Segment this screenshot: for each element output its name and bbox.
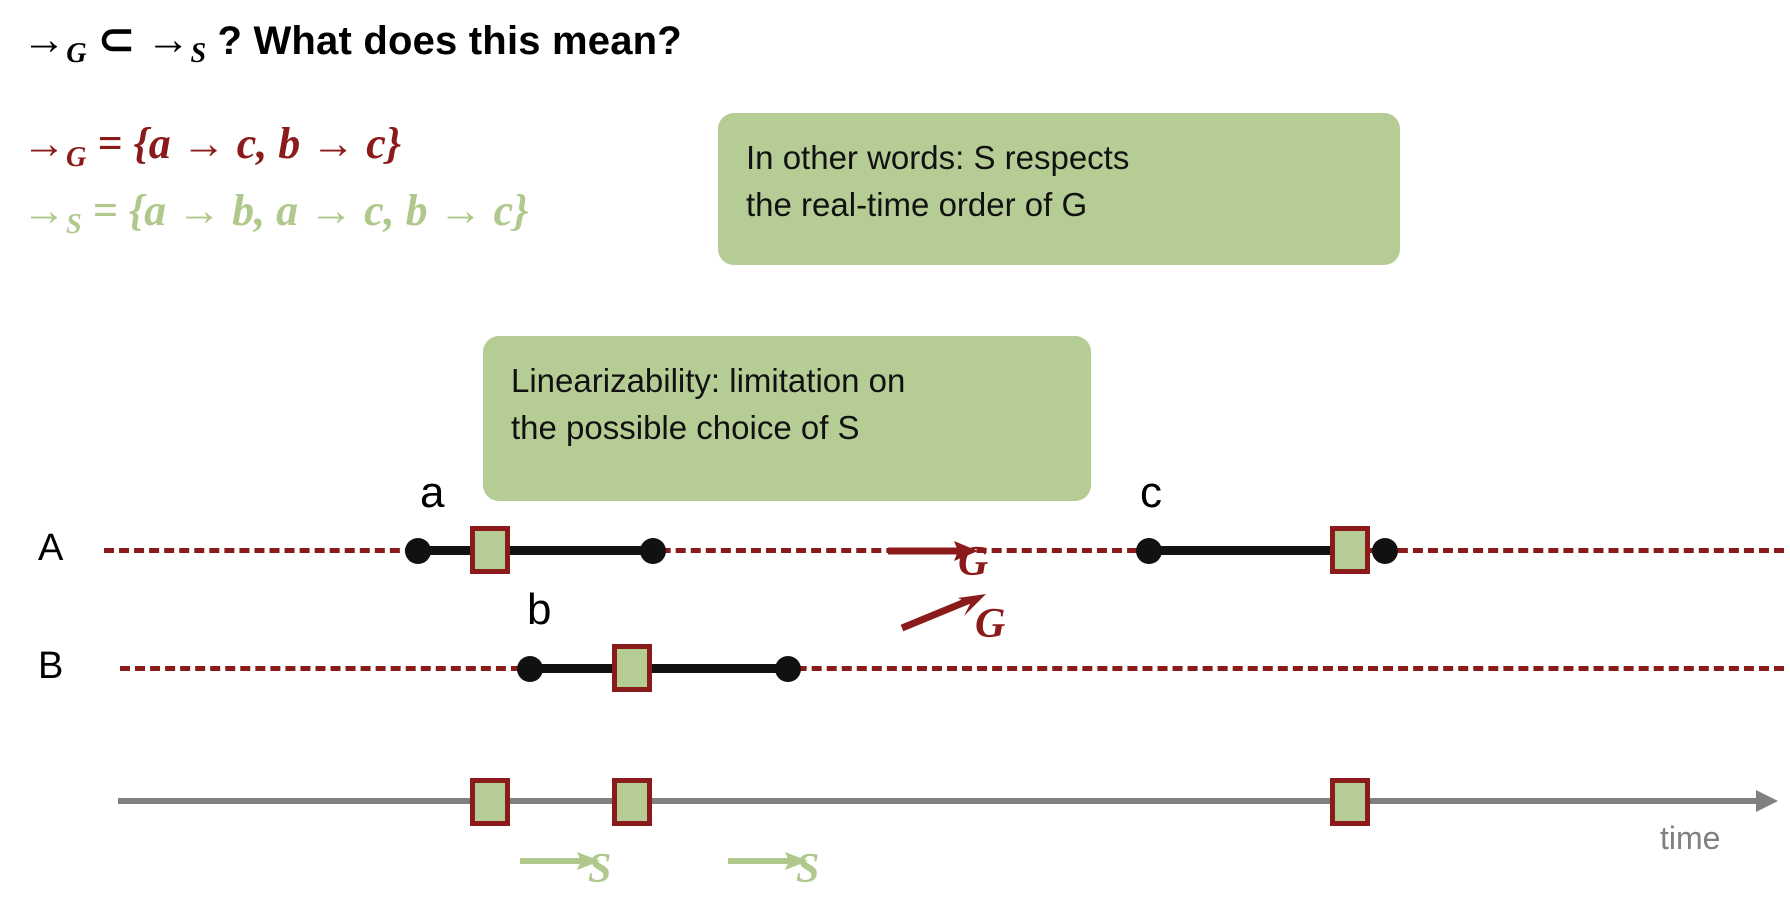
- title-rel-s: →S: [146, 15, 206, 64]
- operation-c-start-dot: [1136, 538, 1162, 564]
- relation-g-label-2: G: [975, 600, 1005, 648]
- callout-words-line2: the real-time order of G: [746, 182, 1372, 229]
- relation-s-label-1: S: [588, 845, 611, 893]
- title-question: ? What does this mean?: [218, 19, 682, 63]
- operation-label-a: a: [420, 468, 444, 518]
- operation-a-start-dot: [405, 538, 431, 564]
- operation-c-end-dot: [1372, 538, 1398, 564]
- operation-label-b: b: [527, 585, 551, 635]
- subset-symbol: ⊂: [98, 15, 135, 64]
- formula-s-subscript: S: [66, 209, 82, 240]
- formula-s-arrow: →: [22, 186, 66, 235]
- timeline-linearization-point-2: [612, 778, 652, 826]
- callout-in-other-words: In other words: S respects the real-time…: [718, 113, 1400, 265]
- time-axis-arrowhead-icon: [1756, 790, 1778, 812]
- lane-b-dashed-line: [120, 666, 1784, 671]
- formula-relation-s: →S = {a → b, a → c, b → c}: [22, 185, 528, 241]
- lane-label-a: A: [38, 527, 63, 570]
- callout-linearizability: Linearizability: limitation on the possi…: [483, 336, 1091, 501]
- operation-b-start-dot: [517, 656, 543, 682]
- formula-g-arrow: →: [22, 119, 66, 168]
- operation-a-interval-bar: [418, 546, 658, 555]
- operation-c-interval-bar: [1148, 546, 1353, 555]
- operation-b-interval-bar: [528, 664, 788, 673]
- relation-g-label-1: G: [958, 538, 988, 586]
- operation-b-end-dot: [775, 656, 801, 682]
- formula-g-rhs: = {a → c, b → c}: [97, 119, 401, 168]
- title-rel-g: →G: [22, 15, 87, 64]
- callout-lin-line1: Linearizability: limitation on: [511, 358, 1063, 405]
- formula-relation-g: →G = {a → c, b → c}: [22, 118, 401, 174]
- formula-s-rhs: = {a → b, a → c, b → c}: [93, 186, 529, 235]
- timeline-linearization-point-1: [470, 778, 510, 826]
- callout-words-line1: In other words: S respects: [746, 135, 1372, 182]
- relation-s-label-2: S: [796, 845, 819, 893]
- page-title: →G ⊂ →S ? What does this mean?: [22, 14, 682, 70]
- callout-lin-line2: the possible choice of S: [511, 405, 1063, 452]
- time-axis-line: [118, 798, 1758, 804]
- operation-a-end-dot: [640, 538, 666, 564]
- operation-a-linearization-point: [470, 526, 510, 574]
- time-axis-label: time: [1660, 820, 1720, 857]
- operation-c-linearization-point: [1330, 526, 1370, 574]
- formula-g-subscript: G: [66, 142, 86, 173]
- operation-label-c: c: [1140, 468, 1162, 518]
- timeline-linearization-point-3: [1330, 778, 1370, 826]
- operation-b-linearization-point: [612, 644, 652, 692]
- lane-label-b: B: [38, 645, 63, 688]
